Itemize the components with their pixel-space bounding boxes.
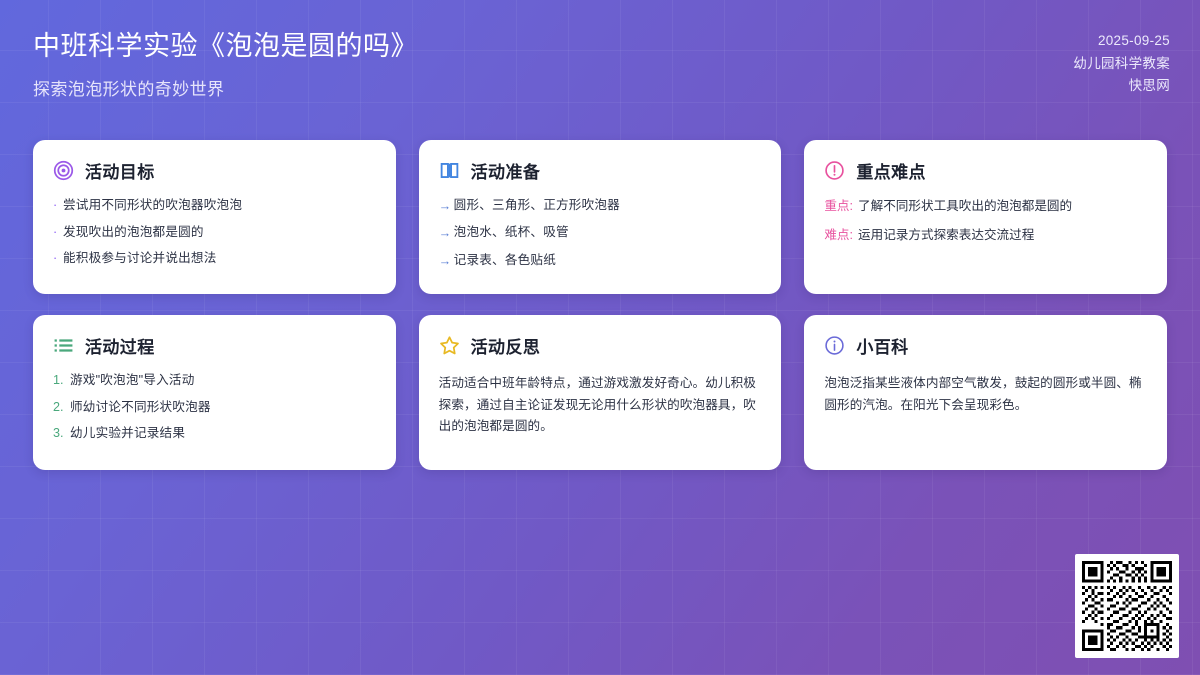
preparation-list: → 圆形、三角形、正方形吹泡器 → 泡泡水、纸杯、吸管 → 记录表、各色贴纸 <box>439 198 762 269</box>
card-header: 活动过程 <box>53 333 376 358</box>
ordered-list-icon <box>53 335 74 356</box>
row-value: 运用记录方式探索表达交流过程 <box>858 227 1034 243</box>
bullet-dot-icon: · <box>53 198 63 214</box>
focus-rows: 重点: 了解不同形状工具吹出的泡泡都是圆的 难点: 运用记录方式探索表达交流过程 <box>824 198 1147 244</box>
list-item: · 尝试用不同形状的吹泡器吹泡泡 <box>53 198 376 214</box>
header-title-block: 中班科学实验《泡泡是圆的吗》 探索泡泡形状的奇妙世界 <box>33 24 418 100</box>
qr-code-container[interactable] <box>1075 554 1179 658</box>
exclamation-circle-icon <box>824 160 845 181</box>
arrow-right-icon: → <box>439 225 454 241</box>
header-category: 幼儿园科学教案 <box>1073 57 1170 71</box>
card-title: 活动准备 <box>471 158 541 183</box>
card-header: 活动准备 <box>439 158 762 183</box>
list-item: 1. 游戏"吹泡泡"导入活动 <box>53 373 376 389</box>
list-item-text: 记录表、各色贴纸 <box>454 253 556 269</box>
key-value-row: 难点: 运用记录方式探索表达交流过程 <box>824 227 1147 243</box>
arrow-right-icon: → <box>439 198 454 214</box>
card-header: 活动反思 <box>439 333 762 358</box>
page-header: 中班科学实验《泡泡是圆的吗》 探索泡泡形状的奇妙世界 2025-09-25 幼儿… <box>0 0 1200 122</box>
card-header: 重点难点 <box>824 158 1147 183</box>
process-list: 1. 游戏"吹泡泡"导入活动 2. 师幼讨论不同形状吹泡器 3. 幼儿实验并记录… <box>53 373 376 442</box>
list-item-number: 2. <box>53 400 70 416</box>
goals-list: · 尝试用不同形状的吹泡器吹泡泡 · 发现吹出的泡泡都是圆的 · 能积极参与讨论… <box>53 198 376 267</box>
list-item: → 记录表、各色贴纸 <box>439 253 762 269</box>
list-item: · 能积极参与讨论并说出想法 <box>53 251 376 267</box>
page-title: 中班科学实验《泡泡是圆的吗》 <box>33 30 418 62</box>
list-item-text: 能积极参与讨论并说出想法 <box>63 251 217 267</box>
reflection-text: 活动适合中班年龄特点，通过游戏激发好奇心。幼儿积极探索，通过自主论证发现无论用什… <box>439 373 762 438</box>
card-focus-difficulty: 重点难点 重点: 了解不同形状工具吹出的泡泡都是圆的 难点: 运用记录方式探索表… <box>804 140 1167 294</box>
list-item: 2. 师幼讨论不同形状吹泡器 <box>53 400 376 416</box>
row-value: 了解不同形状工具吹出的泡泡都是圆的 <box>858 198 1072 214</box>
star-icon <box>439 335 460 356</box>
bullet-dot-icon: · <box>53 225 63 241</box>
card-activity-preparation: 活动准备 → 圆形、三角形、正方形吹泡器 → 泡泡水、纸杯、吸管 → 记录表、各… <box>419 140 782 294</box>
bullet-dot-icon: · <box>53 251 63 267</box>
page-subtitle: 探索泡泡形状的奇妙世界 <box>33 75 418 100</box>
list-item-text: 发现吹出的泡泡都是圆的 <box>63 225 204 241</box>
list-item-text: 游戏"吹泡泡"导入活动 <box>70 373 195 389</box>
card-header: 活动目标 <box>53 158 376 183</box>
list-item-text: 泡泡水、纸杯、吸管 <box>454 225 569 241</box>
card-activity-process: 活动过程 1. 游戏"吹泡泡"导入活动 2. 师幼讨论不同形状吹泡器 3. 幼儿… <box>33 315 396 470</box>
card-activity-reflection: 活动反思 活动适合中班年龄特点，通过游戏激发好奇心。幼儿积极探索，通过自主论证发… <box>419 315 782 470</box>
row-label: 重点: <box>824 198 853 214</box>
list-item-text: 幼儿实验并记录结果 <box>70 426 185 442</box>
list-item-text: 师幼讨论不同形状吹泡器 <box>70 400 211 416</box>
list-item: → 圆形、三角形、正方形吹泡器 <box>439 198 762 214</box>
card-wiki: 小百科 泡泡泛指某些液体内部空气散发，鼓起的圆形或半圆、椭圆形的汽泡。在阳光下会… <box>804 315 1167 470</box>
qr-code-icon <box>1082 561 1172 651</box>
card-header: 小百科 <box>824 333 1147 358</box>
wiki-text: 泡泡泛指某些液体内部空气散发，鼓起的圆形或半圆、椭圆形的汽泡。在阳光下会呈现彩色… <box>824 373 1147 416</box>
list-item: 3. 幼儿实验并记录结果 <box>53 426 376 442</box>
card-grid: 活动目标 · 尝试用不同形状的吹泡器吹泡泡 · 发现吹出的泡泡都是圆的 · 能积… <box>33 140 1167 470</box>
list-item-text: 尝试用不同形状的吹泡器吹泡泡 <box>63 198 242 214</box>
header-date: 2025-09-25 <box>1073 34 1170 48</box>
arrow-right-icon: → <box>439 253 454 269</box>
list-item-number: 1. <box>53 373 70 389</box>
card-activity-goals: 活动目标 · 尝试用不同形状的吹泡器吹泡泡 · 发现吹出的泡泡都是圆的 · 能积… <box>33 140 396 294</box>
key-value-row: 重点: 了解不同形状工具吹出的泡泡都是圆的 <box>824 198 1147 214</box>
list-item-number: 3. <box>53 426 70 442</box>
card-title: 活动反思 <box>471 333 541 358</box>
target-icon <box>53 160 74 181</box>
list-item-text: 圆形、三角形、正方形吹泡器 <box>454 198 620 214</box>
header-meta-block: 2025-09-25 幼儿园科学教案 快思网 <box>1073 24 1170 93</box>
header-site-name: 快思网 <box>1073 79 1170 93</box>
card-title: 重点难点 <box>856 158 926 183</box>
open-book-icon <box>439 160 460 181</box>
card-title: 小百科 <box>856 333 908 358</box>
card-title: 活动目标 <box>85 158 155 183</box>
list-item: → 泡泡水、纸杯、吸管 <box>439 225 762 241</box>
info-circle-icon <box>824 335 845 356</box>
card-title: 活动过程 <box>85 333 155 358</box>
row-label: 难点: <box>824 227 853 243</box>
list-item: · 发现吹出的泡泡都是圆的 <box>53 225 376 241</box>
